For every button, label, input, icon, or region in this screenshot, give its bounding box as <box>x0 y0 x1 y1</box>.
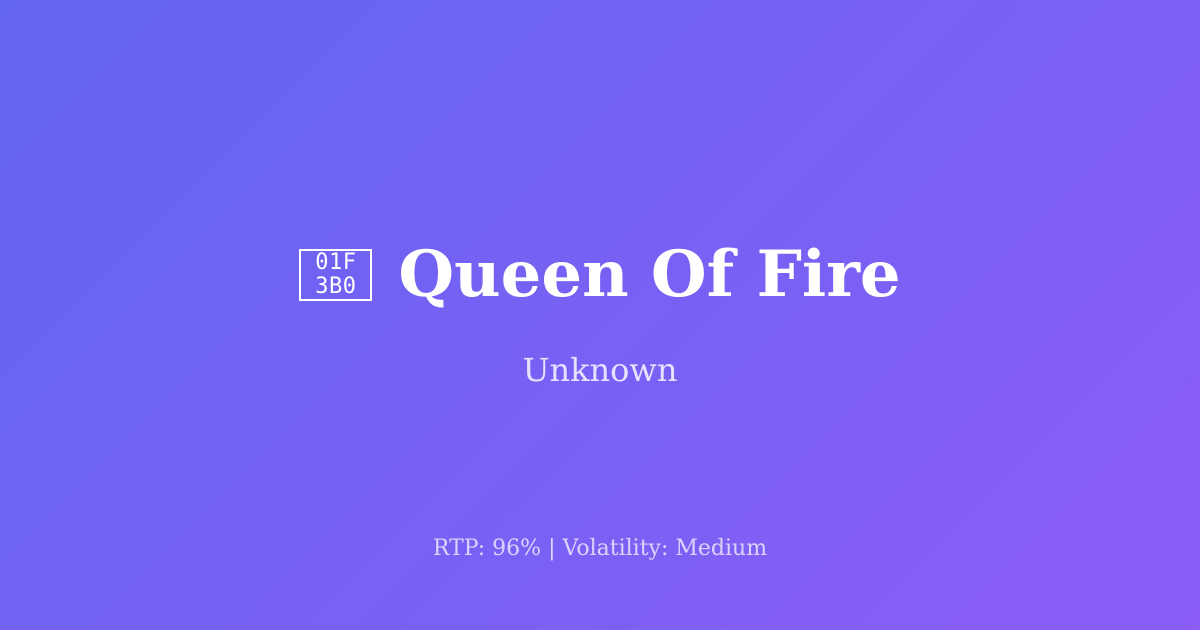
slot-machine-icon-hex-bottom: 3B0 <box>315 275 356 299</box>
page-title: Queen Of Fire <box>398 240 900 309</box>
slot-machine-icon: 01F 3B0 <box>299 249 372 301</box>
slot-machine-icon-hex-top: 01F <box>315 251 356 275</box>
game-meta-line: RTP: 96% | Volatility: Medium <box>0 536 1200 562</box>
provider-label: Unknown <box>523 309 678 389</box>
title-row: 01F 3B0 Queen Of Fire <box>0 240 1200 309</box>
game-og-card: 01F 3B0 Queen Of Fire Unknown RTP: 96% |… <box>0 0 1200 630</box>
